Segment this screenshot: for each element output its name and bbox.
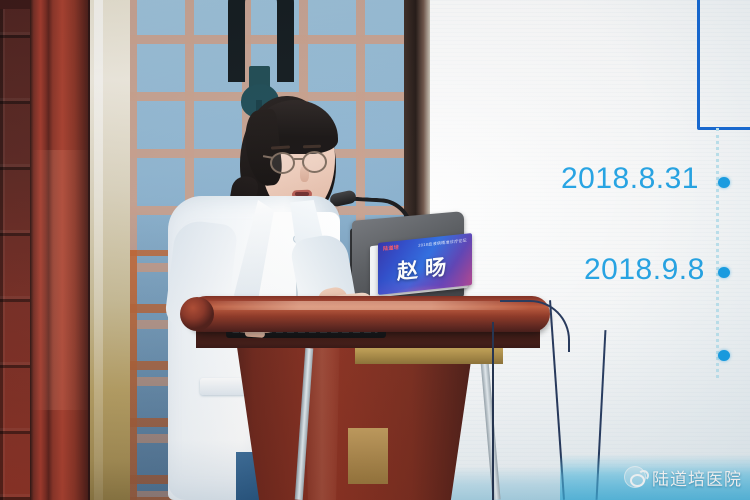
name-placard-logo: 陆道培 bbox=[383, 244, 399, 253]
timeline-dot-2 bbox=[718, 267, 730, 278]
name-placard: 陆道培 2018血液病精准诊疗论坛 赵旸 bbox=[378, 233, 472, 295]
glasses-bridge bbox=[294, 158, 303, 160]
gilt-strip-highlight bbox=[94, 0, 103, 500]
timeline-dot-1 bbox=[718, 177, 730, 188]
cable-1 bbox=[492, 322, 528, 500]
name-placard-event-tag: 2018血液病精准诊疗论坛 bbox=[418, 238, 467, 249]
timeline-date-2: 2018.9.8 bbox=[584, 253, 705, 287]
weibo-icon bbox=[624, 466, 646, 488]
podium-lower-brass-plate bbox=[348, 428, 388, 484]
wood-pilaster-highlight bbox=[30, 150, 92, 410]
speaker-nose bbox=[300, 166, 309, 182]
glasses-lens-left bbox=[270, 152, 295, 174]
watermark-text: 陆道培医院 bbox=[652, 465, 742, 490]
speaker-eyebrow-right bbox=[303, 145, 321, 149]
timeline-dot-3 bbox=[718, 350, 730, 361]
watermark: 陆道培医院 bbox=[624, 464, 742, 490]
podium-rail-gloss bbox=[200, 301, 530, 310]
timeline-dotted-line bbox=[716, 128, 719, 378]
timeline-date-1: 2018.8.31 bbox=[561, 162, 699, 196]
screenshot-root: 2018.8.31 2018.9.8 陆道培 2018血液病精准诊疗论坛 赵旸 bbox=[0, 0, 750, 500]
podium-rail-end-cap bbox=[180, 297, 214, 331]
slide-border-box bbox=[697, 0, 750, 130]
